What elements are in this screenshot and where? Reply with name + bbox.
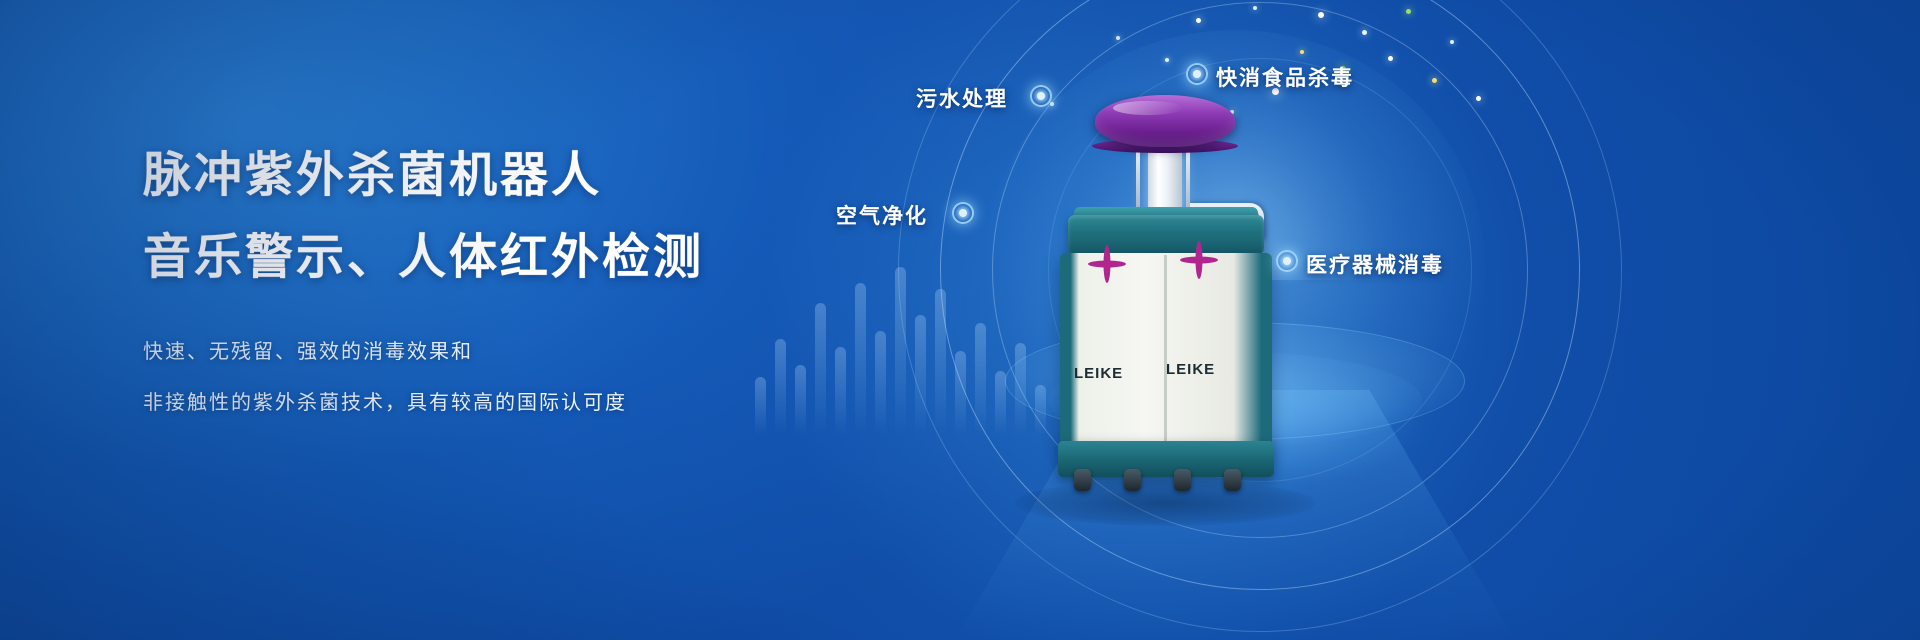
feature-label-air-purification: 空气净化 xyxy=(836,200,928,230)
sparkle-dot xyxy=(1196,18,1201,23)
sparkle-dot xyxy=(1388,56,1393,61)
sparkle-dot xyxy=(1450,40,1454,44)
subtext-line-1: 快速、无残留、强效的消毒效果和 xyxy=(143,342,843,362)
lamp-rail-left xyxy=(1136,151,1140,213)
robot-wheel xyxy=(1174,469,1191,491)
sparkle-star-icon xyxy=(1180,241,1218,279)
feature-label-wastewater-treatment: 污水处理 xyxy=(916,83,1008,113)
sparkle-dot xyxy=(1253,6,1257,10)
node-marker-air xyxy=(952,202,974,224)
node-marker-wastewater xyxy=(1030,85,1052,107)
feature-label-fmcg-food-disinfection: 快消食品杀毒 xyxy=(1216,62,1354,92)
brand-label-left: LEIKE xyxy=(1074,365,1123,382)
purple-dome-reflector xyxy=(1095,95,1235,147)
node-marker-food xyxy=(1186,63,1208,85)
sparkle-dot-yellow xyxy=(1432,78,1437,83)
sparkle-dot xyxy=(1476,96,1481,101)
headline-line-2: 音乐警示、人体红外检测 xyxy=(143,234,843,282)
product-hero-banner: LEIKE LEIKE 污水处理 快消食品杀毒 空气净化 医疗器械消毒 脉冲紫外… xyxy=(0,0,1920,640)
robot-wheel xyxy=(1224,469,1241,491)
feature-label-medical-device-disinfection: 医疗器械消毒 xyxy=(1306,249,1444,279)
sparkle-dot xyxy=(1165,58,1169,62)
headline-line-1: 脉冲紫外杀菌机器人 xyxy=(143,152,843,200)
panel-divider xyxy=(1164,255,1167,445)
node-marker-medical xyxy=(1276,250,1298,272)
sparkle-dot-green xyxy=(1406,9,1411,14)
sparkle-star-icon xyxy=(1088,245,1126,283)
sparkle-dot xyxy=(1116,36,1120,40)
lamp-rail-right xyxy=(1186,151,1190,213)
robot-wheel xyxy=(1074,469,1091,491)
banner-copy-block: 脉冲紫外杀菌机器人 音乐警示、人体红外检测 快速、无残留、强效的消毒效果和 非接… xyxy=(143,152,843,413)
uv-lamp-tube xyxy=(1148,147,1182,215)
uv-disinfection-robot-illustration: LEIKE LEIKE xyxy=(1040,95,1270,495)
brand-label-right: LEIKE xyxy=(1166,361,1215,378)
sparkle-dot-yellow xyxy=(1300,50,1304,54)
sparkle-dot xyxy=(1362,30,1367,35)
sparkle-dot xyxy=(1318,12,1324,18)
subtext-line-2: 非接触性的紫外杀菌技术，具有较高的国际认可度 xyxy=(143,393,843,413)
robot-wheel xyxy=(1124,469,1141,491)
